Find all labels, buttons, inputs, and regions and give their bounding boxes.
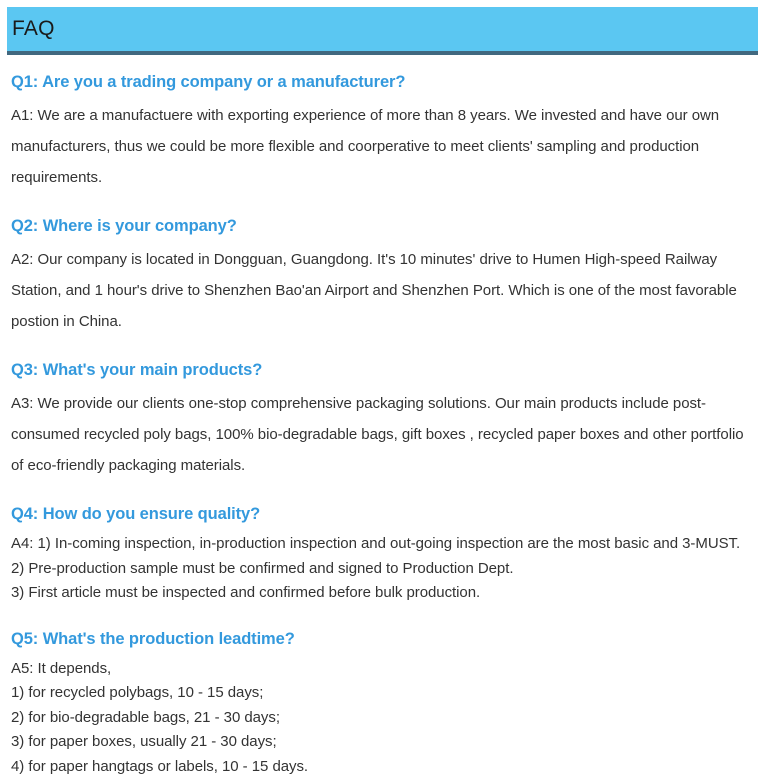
faq-answer-q2: A2: Our company is located in Dongguan, … bbox=[11, 244, 752, 337]
faq-answer-line: 2) for bio-degradable bags, 21 - 30 days… bbox=[11, 706, 752, 731]
faq-answer-q1: A1: We are a manufactuere with exporting… bbox=[11, 100, 752, 193]
faq-item-q2: Q2: Where is your company? A2: Our compa… bbox=[11, 214, 752, 337]
faq-item-q3: Q3: What's your main products? A3: We pr… bbox=[11, 358, 752, 481]
faq-list: Q1: Are you a trading company or a manuf… bbox=[11, 70, 752, 779]
page-title: FAQ bbox=[12, 15, 55, 43]
faq-answer-line: 3) First article must be inspected and c… bbox=[11, 581, 752, 606]
faq-answer-line: 3) for paper boxes, usually 21 - 30 days… bbox=[11, 730, 752, 755]
faq-question-q2: Q2: Where is your company? bbox=[11, 214, 752, 239]
faq-question-q3: Q3: What's your main products? bbox=[11, 358, 752, 383]
faq-answer-line: 2) Pre-production sample must be confirm… bbox=[11, 557, 752, 582]
faq-answer-line: A4: 1) In-coming inspection, in-producti… bbox=[11, 532, 752, 557]
faq-answer-line: 1) for recycled polybags, 10 - 15 days; bbox=[11, 681, 752, 706]
faq-answer-line: 4) for paper hangtags or labels, 10 - 15… bbox=[11, 755, 752, 779]
faq-item-q1: Q1: Are you a trading company or a manuf… bbox=[11, 70, 752, 193]
faq-question-q4: Q4: How do you ensure quality? bbox=[11, 502, 752, 527]
faq-header-bar: FAQ bbox=[7, 7, 758, 55]
faq-question-q1: Q1: Are you a trading company or a manuf… bbox=[11, 70, 752, 95]
faq-answer-q4: A4: 1) In-coming inspection, in-producti… bbox=[11, 532, 752, 606]
faq-question-q5: Q5: What's the production leadtime? bbox=[11, 627, 752, 652]
faq-answer-line: A5: It depends, bbox=[11, 657, 752, 682]
faq-answer-q5: A5: It depends, 1) for recycled polybags… bbox=[11, 657, 752, 779]
faq-answer-q3: A3: We provide our clients one-stop comp… bbox=[11, 388, 752, 481]
faq-item-q5: Q5: What's the production leadtime? A5: … bbox=[11, 627, 752, 779]
faq-page: FAQ Q1: Are you a trading company or a m… bbox=[0, 0, 765, 748]
faq-item-q4: Q4: How do you ensure quality? A4: 1) In… bbox=[11, 502, 752, 606]
